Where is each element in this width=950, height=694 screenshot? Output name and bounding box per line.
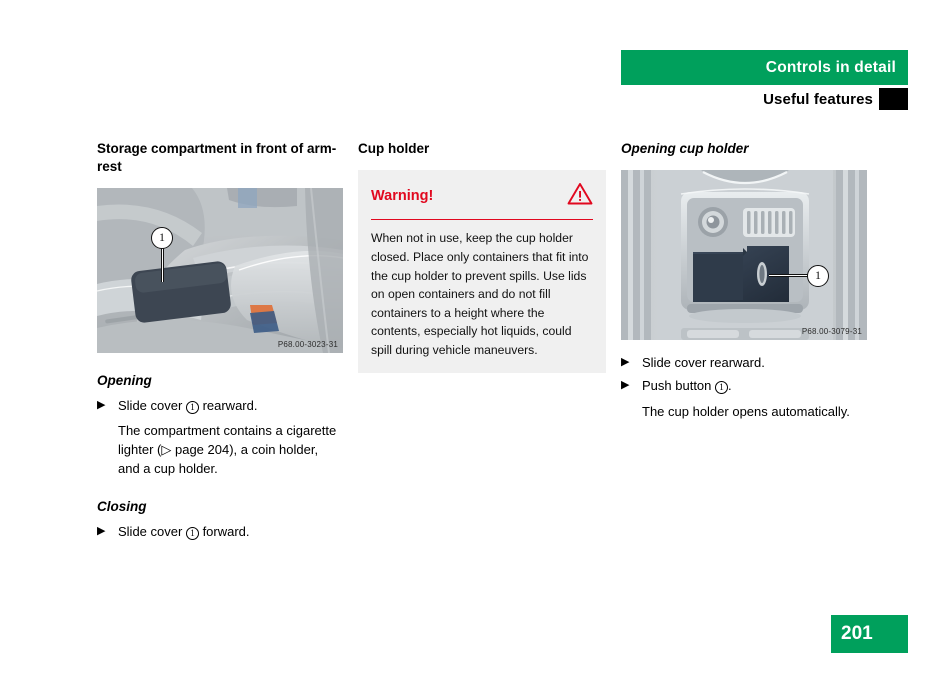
callout-leader-line-1 [161,246,164,282]
column-cup-holder: Cup holder Warning! When not in use, kee… [358,140,606,373]
storage-compartment-illustration [97,188,343,353]
opening-heading: Opening [97,373,343,388]
figure-caption-1: P68.00-3023-31 [278,340,338,349]
step-arrow-icon: ▶ [621,377,642,395]
warning-header: Warning! [371,182,593,219]
cupholder-note: The cup holder opens automatically. [642,403,868,422]
header-subtitle: Useful features [763,91,879,108]
cup-holder-illustration [621,170,867,340]
header-banner-title: Controls in detail [766,59,896,77]
opening-step-1-text: Slide cover 1 rearward. [118,397,343,416]
figure-cup-holder: 1 P68.00-3079-31 [621,170,867,340]
opening-step-1: ▶ Slide cover 1 rearward. [97,397,343,416]
figure-storage-compartment: 1 P68.00-3023-31 [97,188,343,353]
cupholder-step-2: ▶ Push button 1. [621,377,868,396]
page-number: 201 [841,623,873,645]
column-storage-compartment: Storage compartment in front of arm-rest [97,140,343,546]
header-banner: Controls in detail [621,50,908,85]
page-ref-icon: ▷ [161,442,171,457]
cupholder-step-1-text: Slide cover rearward. [642,354,868,373]
figure-callout-1: 1 [151,227,173,249]
step-arrow-icon: ▶ [97,523,118,541]
circled-number-icon: 1 [186,401,199,414]
cupholder-step-2-text: Push button 1. [642,377,868,396]
header-subrow: Useful features [621,85,908,113]
opening-paragraph: The compartment contains a cigarette lig… [118,422,343,479]
closing-step-1-text-before: Slide cover [118,524,182,539]
figure-callout-3: 1 [807,265,829,287]
closing-step-1-text-after: forward. [203,524,250,539]
opening-step-1-text-before: Slide cover [118,398,182,413]
warning-box: Warning! When not in use, keep the cup h… [358,170,606,373]
circled-number-icon: 1 [715,381,728,394]
warning-title: Warning! [371,188,433,204]
cupholder-step-1: ▶ Slide cover rearward. [621,354,868,373]
figure-caption-3: P68.00-3079-31 [802,327,862,336]
col1-heading: Storage compartment in front of arm-rest [97,140,343,176]
circled-number-icon: 1 [186,527,199,540]
step-arrow-icon: ▶ [621,354,642,372]
warning-divider [371,219,593,221]
warning-body-text: When not in use, keep the cup holder clo… [371,229,593,359]
column-opening-cup-holder: Opening cup holder [621,140,868,421]
col3-heading: Opening cup holder [621,140,868,158]
page-number-box: 201 [831,615,908,653]
warning-triangle-icon [567,182,593,210]
opening-step-1-text-after: rearward. [203,398,258,413]
header-black-marker [879,88,908,110]
closing-heading: Closing [97,499,343,514]
closing-step-1: ▶ Slide cover 1 forward. [97,523,343,542]
step-arrow-icon: ▶ [97,397,118,415]
cupholder-step-2-text-before: Push button [642,378,711,393]
closing-step-1-text: Slide cover 1 forward. [118,523,343,542]
cupholder-step-2-text-after: . [728,378,732,393]
col2-heading: Cup holder [358,140,606,158]
